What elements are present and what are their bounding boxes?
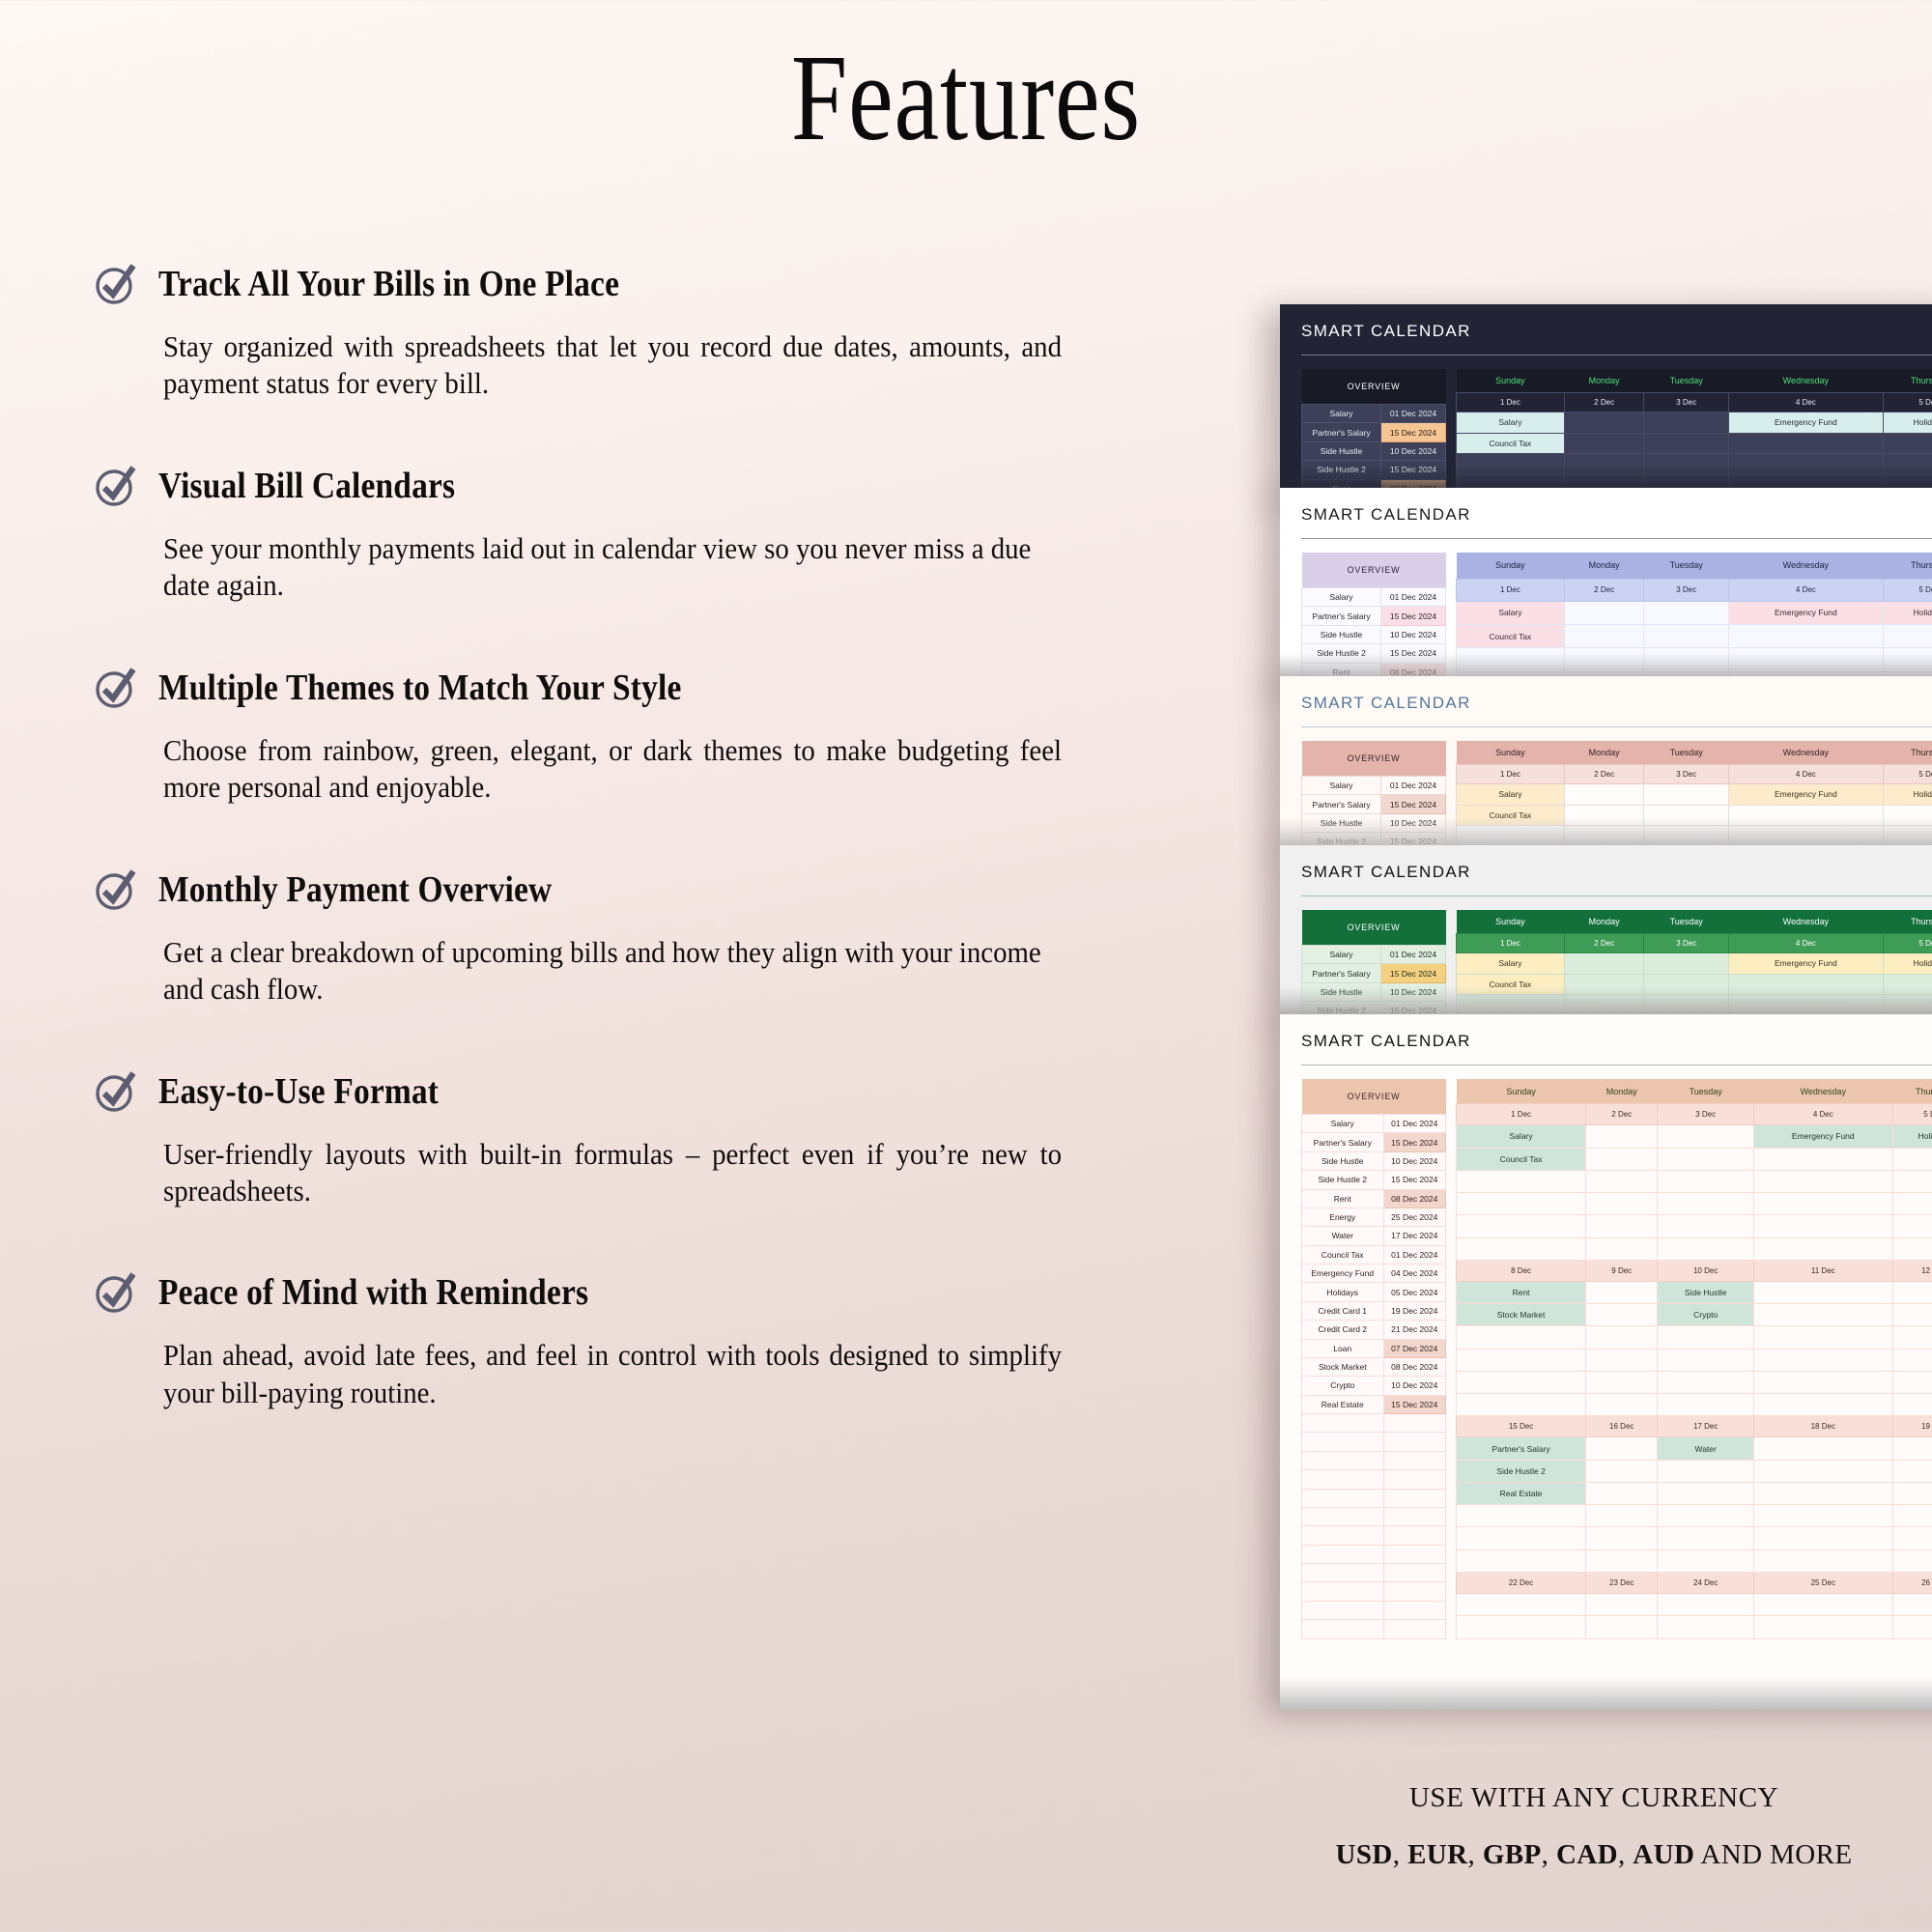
currency-separator: ,	[1393, 1839, 1407, 1870]
calendar-cell-empty	[1586, 1460, 1658, 1482]
overview-header: OVERVIEW	[1302, 553, 1446, 588]
feature-title: Monthly Payment Overview	[158, 865, 552, 911]
overview-date: 15 Dec 2024	[1381, 607, 1446, 625]
calendar-cell-empty	[1644, 433, 1729, 454]
weekday-header: Tuesday	[1644, 741, 1729, 764]
table-row: Salary01 Dec 2024	[1302, 1115, 1446, 1133]
weekday-header: Thursday	[1892, 1079, 1932, 1104]
overview-label: Rent	[1302, 1189, 1384, 1207]
overview-label: Crypto	[1302, 1377, 1384, 1395]
calendar-cell-empty	[1586, 1371, 1658, 1393]
calendar-event: Holidays	[1883, 784, 1932, 806]
theme-preview-dark[interactable]: SMART CALENDAROVERVIEWSalary01 Dec 2024P…	[1280, 304, 1932, 497]
calendar-cell-empty	[1754, 1326, 1892, 1349]
weekday-header: Tuesday	[1644, 369, 1729, 392]
calendar-cell-empty	[1586, 1437, 1658, 1460]
table-row: Partner's Salary15 Dec 2024	[1302, 607, 1446, 625]
overview-date: 15 Dec 2024	[1381, 964, 1446, 982]
calendar-event: Stock Market	[1457, 1304, 1586, 1326]
calendar-cell-empty	[1457, 1394, 1586, 1416]
table-row: Salary01 Dec 2024	[1302, 405, 1446, 423]
weekday-header: Sunday	[1457, 369, 1565, 392]
calendar-cell-empty	[1892, 1215, 1932, 1237]
overview-date: 19 Dec 2024	[1383, 1301, 1445, 1320]
overview-date: 04 Dec 2024	[1383, 1264, 1445, 1283]
overview-label: Partner's Salary	[1302, 795, 1381, 813]
calendar-cell-empty	[1658, 1593, 1754, 1615]
calendar-day-number: 1 Dec	[1457, 392, 1565, 412]
calendar-event: Crypto	[1658, 1304, 1754, 1326]
calendar-day-number: 1 Dec	[1457, 1104, 1586, 1125]
panel-title: SMART CALENDAR	[1280, 488, 1932, 538]
table-row: Partner's Salary15 Dec 2024	[1302, 795, 1446, 813]
calendar-cell-empty	[1883, 433, 1932, 454]
table-row: Side Hustle10 Dec 2024	[1302, 441, 1446, 460]
calendar-cell-empty	[1892, 1549, 1932, 1572]
feature-description: See your monthly payments laid out in ca…	[163, 530, 1062, 605]
calendar-day-number: 1 Dec	[1457, 764, 1565, 784]
calendar-day-number: 1 Dec	[1457, 933, 1565, 953]
calendar-cell-empty	[1892, 1326, 1932, 1349]
calendar-cell-empty	[1457, 1616, 1586, 1638]
overview-label: Holidays	[1302, 1283, 1384, 1301]
check-circle-icon	[93, 1269, 139, 1316]
weekday-header: Sunday	[1457, 1079, 1586, 1104]
check-circle-icon	[93, 1068, 139, 1115]
overview-date: 15 Dec 2024	[1383, 1395, 1445, 1413]
calendar-cell-empty	[1586, 1125, 1658, 1148]
calendar-cell-empty	[1586, 1304, 1658, 1326]
table-row-empty	[1302, 1507, 1446, 1525]
calendar-day-number: 10 Dec	[1658, 1260, 1754, 1281]
currency-suffix: AND MORE	[1700, 1839, 1852, 1870]
calendar-cell-empty	[1586, 1394, 1658, 1416]
table-row: Side Hustle10 Dec 2024	[1302, 1151, 1446, 1170]
weekday-header: Monday	[1564, 553, 1644, 579]
table-row: Salary01 Dec 2024	[1302, 588, 1446, 607]
overview-label: Salary	[1302, 1115, 1384, 1133]
overview-label: Partner's Salary	[1302, 964, 1381, 982]
overview-label: Emergency Fund	[1302, 1264, 1384, 1283]
calendar-cell-empty	[1754, 1237, 1892, 1260]
calendar-day-number: 3 Dec	[1644, 392, 1729, 412]
calendar-cell-empty	[1644, 784, 1729, 806]
feature-description: Get a clear breakdown of upcoming bills …	[163, 934, 1062, 1009]
feature-title: Multiple Themes to Match Your Style	[158, 663, 681, 709]
calendar-cell-empty	[1457, 1326, 1586, 1349]
calendar-cell-empty	[1586, 1616, 1658, 1638]
overview-label: Side Hustle	[1302, 441, 1381, 460]
overview-header: OVERVIEW	[1302, 741, 1446, 777]
feature-description: Choose from rainbow, green, elegant, or …	[163, 732, 1062, 807]
calendar-cell-empty	[1754, 1394, 1892, 1416]
calendar-cell-empty	[1892, 1593, 1932, 1615]
feature-item: Monthly Payment OverviewGet a clear brea…	[93, 865, 1124, 1009]
overview-date: 15 Dec 2024	[1383, 1171, 1445, 1189]
weekday-header: Tuesday	[1644, 553, 1729, 579]
calendar-day-number: 2 Dec	[1564, 933, 1644, 953]
table-row-empty	[1302, 1470, 1446, 1489]
overview-label: Credit Card 2	[1302, 1321, 1384, 1339]
overview-date: 25 Dec 2024	[1383, 1207, 1445, 1226]
table-row-empty	[1302, 1620, 1446, 1638]
table-row-empty	[1302, 1601, 1446, 1619]
overview-label: Salary	[1302, 405, 1381, 423]
table-row-empty	[1302, 1489, 1446, 1507]
table-row: Side Hustle10 Dec 2024	[1302, 625, 1446, 643]
calendar-cell-empty	[1892, 1460, 1932, 1482]
overview-date: 15 Dec 2024	[1381, 423, 1446, 441]
table-row: Council Tax01 Dec 2024	[1302, 1245, 1446, 1264]
calendar-event: Holidays	[1883, 601, 1932, 624]
currency-code: AUD	[1633, 1839, 1694, 1870]
calendar-cell-empty	[1754, 1505, 1892, 1527]
table-row-empty	[1302, 1433, 1446, 1451]
calendar-event: Emergency Fund	[1728, 412, 1883, 434]
calendar-cell-empty	[1754, 1148, 1892, 1170]
overview-date: 10 Dec 2024	[1381, 625, 1446, 643]
feature-item: Easy-to-Use FormatUser-friendly layouts …	[93, 1066, 1124, 1210]
feature-description: Stay organized with spreadsheets that le…	[163, 328, 1062, 403]
calendar-cell-empty	[1644, 953, 1729, 975]
calendar-day-number: 26 Dec	[1892, 1572, 1932, 1593]
calendar-cell-empty	[1892, 1505, 1932, 1527]
calendar-day-number: 9 Dec	[1586, 1260, 1658, 1281]
table-row: Crypto10 Dec 2024	[1302, 1377, 1446, 1395]
calendar-cell-empty	[1754, 1437, 1892, 1460]
calendar-cell-empty	[1586, 1482, 1658, 1504]
calendar-day-number: 4 Dec	[1728, 392, 1883, 412]
overview-label: Credit Card 1	[1302, 1301, 1384, 1320]
calendar-day-number: 8 Dec	[1457, 1260, 1586, 1281]
weekday-header: Wednesday	[1754, 1079, 1892, 1104]
calendar-cell-empty	[1564, 625, 1644, 648]
overview-header: OVERVIEW	[1302, 1079, 1446, 1115]
calendar-day-number: 19 Dec	[1892, 1416, 1932, 1437]
feature-item: Track All Your Bills in One PlaceStay or…	[93, 259, 1124, 403]
currency-footer: USE WITH ANY CURRENCY USD, EUR, GBP, CAD…	[1256, 1782, 1932, 1871]
calendar-event: Holidays	[1892, 1125, 1932, 1148]
calendar-cell-empty	[1658, 1482, 1754, 1504]
calendar-cell-empty	[1586, 1505, 1658, 1527]
calendar-day-number: 23 Dec	[1586, 1572, 1658, 1593]
feature-title: Peace of Mind with Reminders	[158, 1267, 588, 1314]
table-row: Partner's Salary15 Dec 2024	[1302, 964, 1446, 982]
calendar-cell-empty	[1457, 1593, 1586, 1615]
calendar-event: Council Tax	[1457, 433, 1565, 454]
weekday-header: Sunday	[1457, 553, 1565, 579]
table-row: Partner's Salary15 Dec 2024	[1302, 423, 1446, 441]
calendar-cell-empty	[1644, 412, 1729, 434]
calendar-day-number: 24 Dec	[1658, 1572, 1754, 1593]
calendar-cell-empty	[1892, 1482, 1932, 1504]
calendar-cell-empty	[1658, 1349, 1754, 1371]
calendar-cell-empty	[1586, 1549, 1658, 1572]
overview-date: 01 Dec 2024	[1381, 405, 1446, 423]
overview-date: 01 Dec 2024	[1381, 588, 1446, 607]
check-circle-icon	[93, 867, 139, 913]
calendar-event: Salary	[1457, 1125, 1586, 1148]
calendar-cell-empty	[1892, 1437, 1932, 1460]
calendar-cell-empty	[1754, 1482, 1892, 1504]
calendar-cell-empty	[1658, 1170, 1754, 1192]
calendar-day-number: 25 Dec	[1754, 1572, 1892, 1593]
overview-label: Stock Market	[1302, 1357, 1384, 1376]
calendar-day-number: 16 Dec	[1586, 1416, 1658, 1437]
overview-date: 05 Dec 2024	[1383, 1283, 1445, 1301]
calendar-cell-empty	[1892, 1304, 1932, 1326]
calendar-cell-empty	[1586, 1281, 1658, 1303]
table-row-empty	[1302, 1582, 1446, 1601]
calendar-day-number: 2 Dec	[1564, 579, 1644, 601]
panel-title: SMART CALENDAR	[1280, 304, 1932, 355]
calendar-cell-empty	[1564, 601, 1644, 624]
calendar-cell-empty	[1892, 1237, 1932, 1260]
overview-label: Salary	[1302, 588, 1381, 607]
calendar-cell-empty	[1658, 1148, 1754, 1170]
overview-label: Partner's Salary	[1302, 423, 1381, 441]
overview-label: Side Hustle	[1302, 1151, 1384, 1170]
calendar-event: Salary	[1457, 601, 1565, 624]
calendar-cell-empty	[1658, 1616, 1754, 1638]
calendar-day-number: 18 Dec	[1754, 1416, 1892, 1437]
calendar-cell-empty	[1658, 1505, 1754, 1527]
check-circle-icon	[93, 261, 139, 307]
calendar-event: Salary	[1457, 784, 1565, 806]
overview-date: 21 Dec 2024	[1383, 1321, 1445, 1339]
calendar-day-number: 3 Dec	[1644, 764, 1729, 784]
calendar-cell-empty	[1586, 1326, 1658, 1349]
table-row-empty	[1302, 1414, 1446, 1433]
calendar-event: Council Tax	[1457, 1148, 1586, 1170]
weekday-header: Thursday	[1883, 369, 1932, 392]
currency-code: USD	[1336, 1839, 1393, 1870]
calendar-event: Holidays	[1883, 412, 1932, 434]
calendar-cell-empty	[1892, 1281, 1932, 1303]
weekday-header: Wednesday	[1728, 369, 1883, 392]
calendar-cell-empty	[1754, 1616, 1892, 1638]
calendar-cell-empty	[1586, 1170, 1658, 1192]
calendar-cell-empty	[1586, 1148, 1658, 1170]
overview-header: OVERVIEW	[1302, 910, 1446, 946]
calendar-cell-empty	[1644, 601, 1729, 624]
calendar-cell-empty	[1586, 1593, 1658, 1615]
calendar-cell-empty	[1586, 1237, 1658, 1260]
calendar-cell-empty	[1754, 1304, 1892, 1326]
currency-separator: ,	[1618, 1839, 1633, 1870]
theme-preview-green[interactable]: SMART CALENDAROVERVIEWSalary01 Dec 2024P…	[1280, 845, 1932, 1019]
calendar-cell-empty	[1457, 1170, 1586, 1192]
overview-date: 10 Dec 2024	[1383, 1151, 1445, 1170]
overview-label: Side Hustle 2	[1302, 1171, 1384, 1189]
calendar-event: Emergency Fund	[1754, 1125, 1892, 1148]
table-row: Water17 Dec 2024	[1302, 1227, 1446, 1245]
overview-label: Side Hustle	[1302, 625, 1381, 643]
calendar-cell-empty	[1754, 1215, 1892, 1237]
overview-header: OVERVIEW	[1302, 369, 1446, 405]
calendar-day-number: 5 Dec	[1883, 933, 1932, 953]
overview-label: Partner's Salary	[1302, 607, 1381, 625]
weekday-header: Sunday	[1457, 910, 1565, 933]
check-circle-icon	[93, 665, 139, 711]
calendar-cell-empty	[1564, 953, 1644, 975]
calendar-event: Real Estate	[1457, 1482, 1586, 1504]
overview-date: 15 Dec 2024	[1381, 795, 1446, 813]
theme-preview-elegant[interactable]: SMART CALENDAROVERVIEWSalary01 Dec 2024P…	[1280, 488, 1932, 686]
calendar-cell-empty	[1658, 1193, 1754, 1215]
weekday-header: Monday	[1586, 1079, 1658, 1104]
calendar-cell-empty	[1586, 1349, 1658, 1371]
weekday-header: Wednesday	[1728, 553, 1883, 579]
table-row: Real Estate15 Dec 2024	[1302, 1395, 1446, 1413]
calendar-cell-empty	[1658, 1371, 1754, 1393]
calendar-cell-empty	[1754, 1193, 1892, 1215]
calendar-cell-empty	[1892, 1616, 1932, 1638]
weekday-header: Thursday	[1883, 553, 1932, 579]
feature-description: User-friendly layouts with built-in form…	[163, 1136, 1062, 1210]
calendar-cell-empty	[1457, 1527, 1586, 1549]
calendar-event: Water	[1658, 1437, 1754, 1460]
calendar-day-number: 11 Dec	[1754, 1260, 1892, 1281]
calendar-cell-empty	[1754, 1371, 1892, 1393]
table-row: Salary01 Dec 2024	[1302, 946, 1446, 964]
panel-fade	[1280, 1677, 1932, 1710]
calendar-cell-empty	[1754, 1349, 1892, 1371]
table-row: Credit Card 221 Dec 2024	[1302, 1321, 1446, 1339]
theme-preview-rainbow[interactable]: SMART CALENDAROVERVIEWSalary01 Dec 2024P…	[1280, 1014, 1932, 1710]
currency-code: GBP	[1483, 1839, 1542, 1870]
overview-label: Salary	[1302, 777, 1381, 795]
weekday-header: Monday	[1564, 910, 1644, 933]
weekday-header: Monday	[1564, 741, 1644, 764]
calendar-cell-empty	[1564, 412, 1644, 434]
calendar-cell-empty	[1892, 1349, 1932, 1371]
calendar-event: Side Hustle	[1658, 1281, 1754, 1303]
overview-label: Energy	[1302, 1207, 1384, 1226]
overview-label: Real Estate	[1302, 1395, 1384, 1413]
currency-headline: USE WITH ANY CURRENCY	[1256, 1782, 1932, 1814]
calendar-day-number: 5 Dec	[1883, 392, 1932, 412]
feature-item: Peace of Mind with RemindersPlan ahead, …	[93, 1267, 1124, 1411]
overview-date: 01 Dec 2024	[1381, 777, 1446, 795]
calendar-cell-empty	[1564, 433, 1644, 454]
table-row: Salary01 Dec 2024	[1302, 777, 1446, 795]
calendar-day-number: 3 Dec	[1644, 933, 1729, 953]
table-row-empty	[1302, 1545, 1446, 1563]
calendar-day-number: 2 Dec	[1564, 392, 1644, 412]
overview-date: 08 Dec 2024	[1383, 1189, 1445, 1207]
calendar-day-number: 3 Dec	[1644, 579, 1729, 601]
weekday-header: Monday	[1564, 369, 1644, 392]
calendar-cell-empty	[1892, 1193, 1932, 1215]
calendar-day-number: 12 Dec	[1892, 1260, 1932, 1281]
panel-title: SMART CALENDAR	[1280, 1014, 1932, 1065]
calendar-event: Salary	[1457, 412, 1565, 434]
overview-date: 01 Dec 2024	[1381, 946, 1446, 964]
table-row-empty	[1302, 1451, 1446, 1469]
theme-mockup-stack: SMART CALENDAROVERVIEWSalary01 Dec 2024P…	[1280, 304, 1932, 1715]
calendar-cell-empty	[1457, 1371, 1586, 1393]
calendar-cell-empty	[1892, 1371, 1932, 1393]
calendar-cell-empty	[1754, 1593, 1892, 1615]
calendar-day-number: 4 Dec	[1754, 1104, 1892, 1125]
calendar-cell-empty	[1728, 625, 1883, 648]
calendar-day-number: 1 Dec	[1457, 579, 1565, 601]
calendar-cell-empty	[1457, 1349, 1586, 1371]
calendar-cell-empty	[1457, 1505, 1586, 1527]
calendar-day-number: 4 Dec	[1728, 933, 1883, 953]
calendar-cell-empty	[1457, 1193, 1586, 1215]
panel-title: SMART CALENDAR	[1280, 845, 1932, 895]
calendar-day-number: 4 Dec	[1728, 764, 1883, 784]
feature-description: Plan ahead, avoid late fees, and feel in…	[163, 1337, 1062, 1411]
overview-date: 17 Dec 2024	[1383, 1227, 1445, 1245]
calendar-cell-empty	[1658, 1215, 1754, 1237]
calendar-day-number: 17 Dec	[1658, 1416, 1754, 1437]
calendar-day-number: 3 Dec	[1658, 1104, 1754, 1125]
overview-date: 07 Dec 2024	[1383, 1339, 1445, 1357]
weekday-header: Thursday	[1883, 741, 1932, 764]
calendar-day-number: 5 Dec	[1883, 764, 1932, 784]
calendar-cell-empty	[1892, 1170, 1932, 1192]
calendar-day-number: 22 Dec	[1457, 1572, 1586, 1593]
table-row: Holidays05 Dec 2024	[1302, 1283, 1446, 1301]
calendar-cell-empty	[1586, 1193, 1658, 1215]
calendar-event: Emergency Fund	[1728, 953, 1883, 975]
calendar-cell-empty	[1644, 625, 1729, 648]
calendar-cell-empty	[1564, 784, 1644, 806]
weekday-header: Tuesday	[1658, 1079, 1754, 1104]
table-row: Rent08 Dec 2024	[1302, 1189, 1446, 1207]
panel-title: SMART CALENDAR	[1280, 676, 1932, 726]
calendar-cell-empty	[1586, 1527, 1658, 1549]
calendar-event: Holidays	[1883, 953, 1932, 975]
calendar-cell-empty	[1892, 1527, 1932, 1549]
calendar-table: SundayMondayTuesdayWednesdayThursday1 De…	[1456, 1079, 1932, 1639]
theme-preview-terracotta[interactable]: SMART CALENDAROVERVIEWSalary01 Dec 2024P…	[1280, 676, 1932, 850]
table-row: Loan07 Dec 2024	[1302, 1339, 1446, 1357]
calendar-event: Council Tax	[1457, 625, 1565, 648]
overview-label: Water	[1302, 1227, 1384, 1245]
overview-date: 10 Dec 2024	[1381, 441, 1446, 460]
calendar-cell-empty	[1754, 1170, 1892, 1192]
table-row-empty	[1302, 1526, 1446, 1545]
calendar-cell-empty	[1754, 1527, 1892, 1549]
feature-title: Easy-to-Use Format	[158, 1066, 439, 1113]
page-title: Features	[174, 33, 1758, 162]
calendar-cell-empty	[1754, 1549, 1892, 1572]
currency-code: EUR	[1407, 1839, 1467, 1870]
calendar-event: Partner's Salary	[1457, 1437, 1586, 1460]
calendar-event: Salary	[1457, 953, 1565, 975]
calendar-cell-empty	[1883, 625, 1932, 648]
overview-date: 10 Dec 2024	[1383, 1377, 1445, 1395]
calendar-cell-empty	[1658, 1527, 1754, 1549]
overview-label: Loan	[1302, 1339, 1384, 1357]
feature-list: Track All Your Bills in One PlaceStay or…	[93, 259, 1124, 1469]
calendar-cell-empty	[1658, 1549, 1754, 1572]
calendar-day-number: 5 Dec	[1892, 1104, 1932, 1125]
overview-label: Salary	[1302, 946, 1381, 964]
table-row: Energy25 Dec 2024	[1302, 1207, 1446, 1226]
calendar-event: Side Hustle 2	[1457, 1460, 1586, 1482]
calendar-day-number: 5 Dec	[1883, 579, 1932, 601]
currency-code: CAD	[1556, 1839, 1618, 1870]
feature-title: Track All Your Bills in One Place	[158, 259, 619, 305]
overview-date: 01 Dec 2024	[1383, 1245, 1445, 1264]
calendar-cell-empty	[1892, 1394, 1932, 1416]
table-row: Credit Card 119 Dec 2024	[1302, 1301, 1446, 1320]
